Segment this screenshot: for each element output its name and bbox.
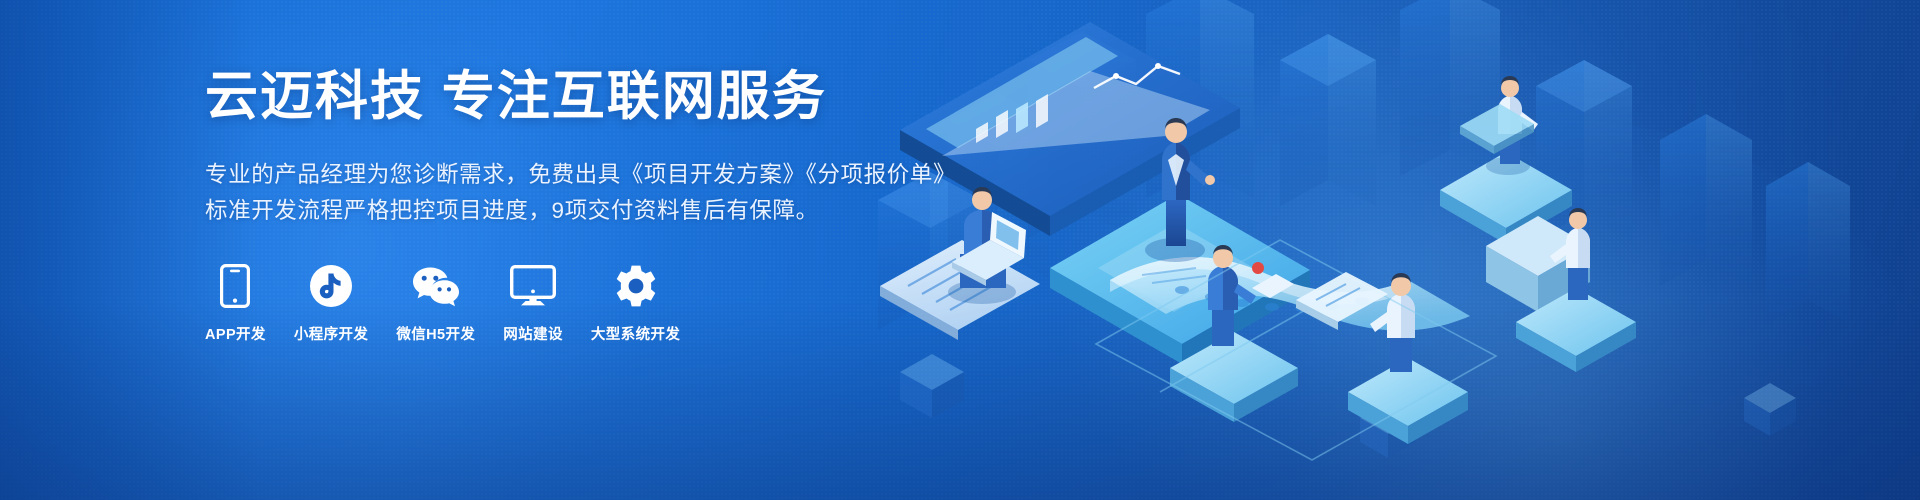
monitor-icon [510, 263, 556, 309]
service-item-large-system[interactable]: 大型系统开发 [591, 263, 680, 344]
service-label-website: 网站建设 [503, 323, 563, 344]
hero-subtitle: 专业的产品经理为您诊断需求，免费出具《项目开发方案》《分项报价单》 标准开发流程… [205, 157, 1145, 230]
service-label-app: APP开发 [205, 323, 266, 344]
wechat-icon [411, 263, 461, 309]
mobile-phone-icon [220, 263, 250, 309]
service-item-app[interactable]: APP开发 [205, 263, 266, 344]
service-label-mini-program: 小程序开发 [294, 323, 369, 344]
service-item-wechat-h5[interactable]: 微信H5开发 [396, 263, 475, 344]
service-item-website[interactable]: 网站建设 [503, 263, 563, 344]
service-list: APP开发 小程序开发 [205, 263, 1145, 344]
subtitle-line-2: 标准开发流程严格把控项目进度，9项交付资料售后有保障。 [205, 193, 1145, 229]
gear-icon [614, 263, 658, 309]
service-label-wechat-h5: 微信H5开发 [396, 323, 475, 344]
page-title: 云迈科技 专注互联网服务 [205, 66, 1145, 129]
service-item-mini-program[interactable]: 小程序开发 [294, 263, 369, 344]
hero-banner: 云迈科技 专注互联网服务 专业的产品经理为您诊断需求，免费出具《项目开发方案》《… [0, 0, 1920, 500]
service-label-large-system: 大型系统开发 [591, 323, 680, 344]
highlight-dot [1252, 262, 1264, 274]
hero-content: 云迈科技 专注互联网服务 专业的产品经理为您诊断需求，免费出具《项目开发方案》《… [205, 66, 1145, 344]
mini-program-icon [309, 263, 353, 309]
person-front-right [1370, 273, 1415, 372]
subtitle-line-1: 专业的产品经理为您诊断需求，免费出具《项目开发方案》《分项报价单》 [205, 157, 1145, 193]
